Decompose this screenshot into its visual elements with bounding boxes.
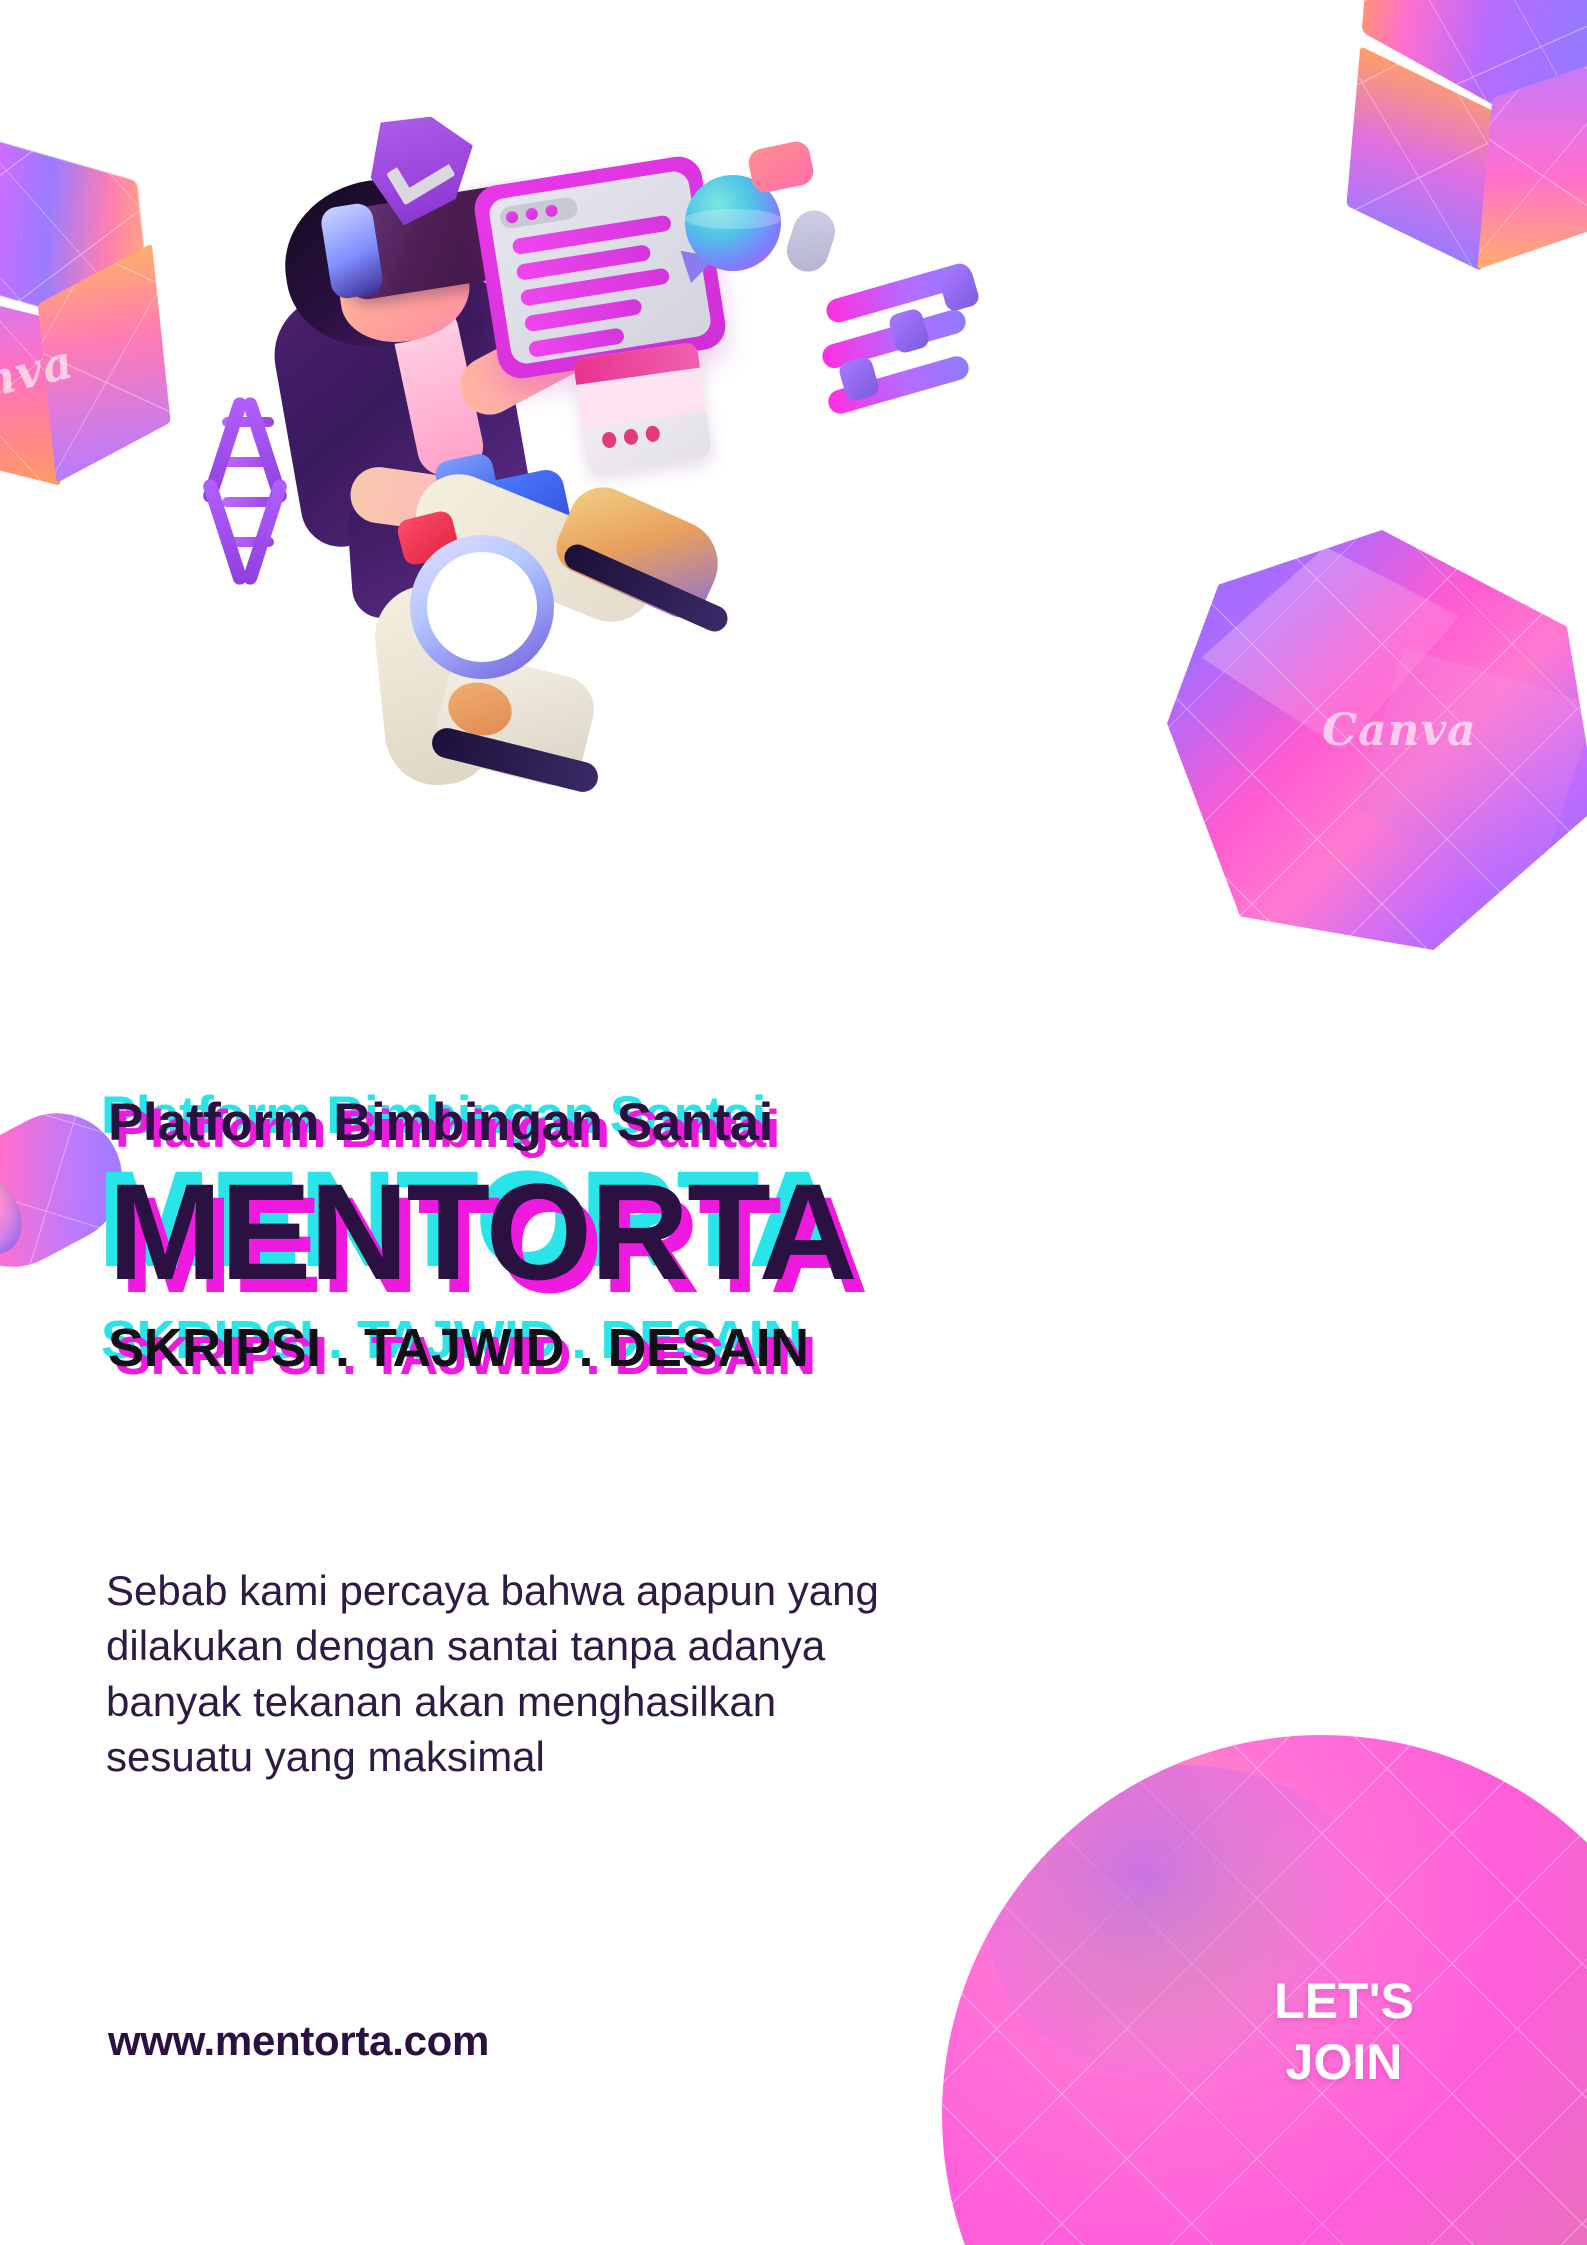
tagline-paragraph: Sebab kami percaya bahwa apapun yang dil… <box>106 1563 896 1785</box>
services-label: SKRIPSI . TAJWID . DESAIN <box>108 1318 809 1378</box>
chat-bubble-icon <box>781 205 840 277</box>
cta-lets-join[interactable]: LET'S JOIN <box>1179 1971 1509 2093</box>
gem-body <box>1167 530 1587 950</box>
brand-label: MENTORTA <box>108 1156 856 1309</box>
slider-controls-icon <box>820 275 1000 415</box>
hero-illustration <box>230 105 1110 785</box>
globe-equator <box>685 209 781 229</box>
headline-block: Platform Bimbingan Santai Platform Bimbi… <box>108 1096 1028 1375</box>
eyebrow-label: Platform Bimbingan Santai <box>108 1093 773 1152</box>
chat-bubble-icon <box>746 139 816 195</box>
cube-top-right-shape: Canva <box>1335 0 1587 248</box>
cta-line-2: JOIN <box>1179 2032 1509 2093</box>
cta-line-1: LET'S <box>1179 1971 1509 2032</box>
website-url[interactable]: www.mentorta.com <box>108 2017 489 2065</box>
poster-canvas: Canva Canva Canva <box>0 0 1587 2245</box>
gem-polyhedron-shape: Canva <box>1167 530 1587 950</box>
services-text: SKRIPSI . TAJWID . DESAIN SKRIPSI . TAJW… <box>108 1321 1028 1375</box>
eyebrow-text: Platform Bimbingan Santai Platform Bimbi… <box>108 1096 1028 1149</box>
brand-title: MENTORTA MENTORTA MENTORTA <box>108 1163 1028 1303</box>
magnifier-ring-icon <box>410 535 554 679</box>
analytics-card-icon <box>573 342 713 473</box>
